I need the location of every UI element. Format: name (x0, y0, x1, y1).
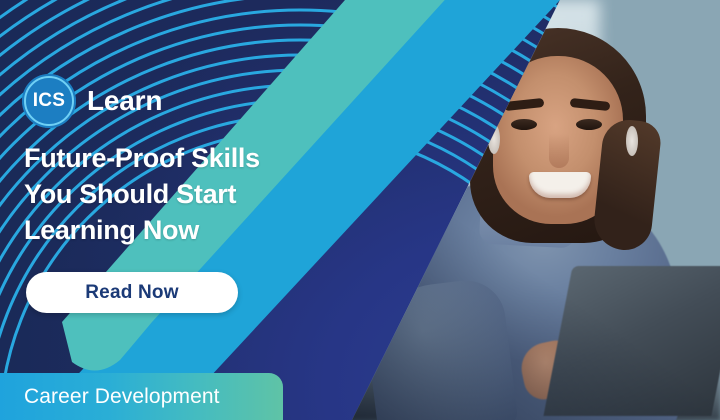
photo-eye-left (511, 119, 537, 130)
headline-line-2: You Should Start (24, 177, 324, 213)
brand-logo[interactable]: ICS Learn (22, 74, 162, 128)
ics-circle-logo-icon: ICS (22, 74, 76, 128)
read-now-button[interactable]: Read Now (26, 272, 238, 313)
photo-smile (529, 172, 591, 198)
promo-banner: ICS Learn Future-Proof Skills You Should… (0, 0, 720, 420)
category-label: Career Development (0, 385, 220, 409)
photo-laptop (543, 266, 720, 416)
category-banner[interactable]: Career Development (0, 373, 283, 420)
headline-line-1: Future-Proof Skills (24, 141, 324, 177)
photo-eye-right (576, 119, 602, 130)
headline: Future-Proof Skills You Should Start Lea… (24, 141, 324, 249)
photo-nose (549, 134, 569, 168)
logo-wordmark: Learn (87, 85, 162, 117)
photo-earring-right (626, 126, 638, 156)
headline-line-3: Learning Now (24, 213, 324, 249)
logo-mark-text: ICS (33, 90, 66, 112)
